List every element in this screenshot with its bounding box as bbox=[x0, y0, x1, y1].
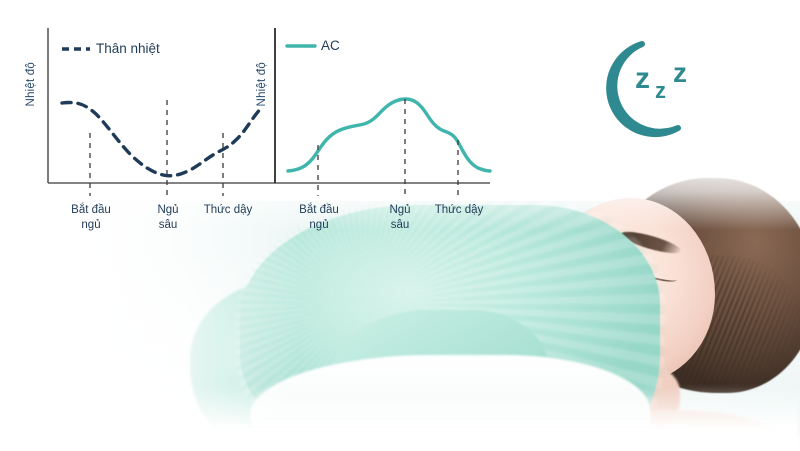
zzz-medium: z bbox=[655, 78, 666, 103]
chart2-tick-deep-sleep: Ngủ sâu bbox=[372, 203, 428, 233]
body-temperature-curve bbox=[62, 102, 262, 175]
zzz-small: z bbox=[673, 57, 687, 88]
chart2-tick-sleep-start: Bắt đầu ngủ bbox=[280, 203, 358, 233]
chart1-tick-deep-sleep: Ngủ sâu bbox=[140, 203, 196, 233]
moon-zzz-svg: z z z bbox=[585, 28, 715, 156]
moon-zzz-icon: z z z bbox=[585, 28, 715, 156]
chart1-tick-sleep-start: Bắt đầu ngủ bbox=[52, 203, 130, 233]
chart2-legend-label: AC bbox=[321, 38, 340, 53]
page-canvas: Thân nhiệt AC Nhiệt độ Nhiệt độ Bắt đầu … bbox=[0, 0, 800, 451]
sleep-temperature-charts: Thân nhiệt AC Nhiệt độ Nhiệt độ Bắt đầu … bbox=[0, 0, 540, 260]
zzz-large: z bbox=[635, 62, 650, 95]
chart2-y-axis-label: Nhiệt độ bbox=[256, 62, 268, 106]
ac-curve bbox=[288, 99, 490, 171]
chart1-y-axis-label: Nhiệt độ bbox=[25, 62, 37, 106]
chart2-tick-wake-up: Thức dậy bbox=[423, 203, 495, 218]
chart1-legend-label: Thân nhiệt bbox=[96, 41, 160, 56]
chart1-tick-wake-up: Thức dậy bbox=[192, 203, 264, 218]
